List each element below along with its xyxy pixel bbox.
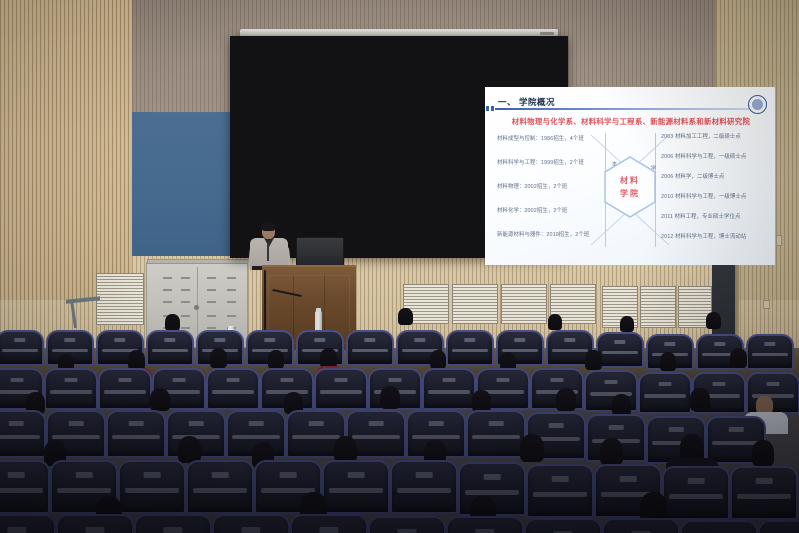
audience-member: [620, 316, 634, 332]
seat-number-tag: [729, 427, 744, 432]
seat-number-tag: [514, 338, 525, 342]
seat-number-tag: [319, 527, 338, 533]
audience-member: [128, 350, 145, 370]
seat-number-tag: [429, 421, 444, 426]
seat-number-tag: [164, 338, 175, 342]
audience-member: [150, 388, 170, 411]
slide-title-row: 一、 学院概况: [498, 96, 555, 108]
list-item: 2003 材料加工工程，二级硕士点: [661, 135, 741, 140]
cabinet-vent-slot: [163, 289, 172, 291]
seat-number-tag: [163, 527, 182, 533]
seat-number-tag: [348, 472, 365, 478]
seat-number-tag: [129, 421, 144, 426]
seat-number-tag: [227, 378, 240, 382]
seat-number-tag: [688, 478, 705, 484]
university-seal-icon: [748, 95, 767, 114]
seat[interactable]: [44, 368, 98, 410]
audience-member: [268, 350, 284, 369]
hexagon-line-1: 材料: [620, 175, 640, 186]
audience-member: [548, 314, 562, 330]
seat[interactable]: [602, 518, 680, 533]
seat[interactable]: [758, 520, 799, 533]
slide-red-heading: 材料物理与化学系、材料科学与工程系、新能源材料系和新材料研究院: [505, 116, 757, 127]
seat[interactable]: [106, 410, 166, 458]
seat-number-tag: [8, 472, 25, 478]
screen-housing-end-cap: [540, 32, 554, 35]
seat-number-tag: [389, 378, 402, 382]
slide-section-number: 一、: [498, 96, 516, 108]
seat-number-tag: [7, 527, 26, 533]
seat[interactable]: [290, 514, 368, 533]
seal-inner-ring: [752, 99, 763, 110]
audience-member: [165, 314, 180, 331]
seat-number-tag: [551, 378, 564, 382]
seat[interactable]: [206, 368, 260, 410]
seat[interactable]: [662, 466, 730, 520]
hexagon-line-2: 学院: [620, 188, 640, 199]
projection-screen-surface: 一、 学院概况 材料物理与化学系、材料科学与工程系、新能源材料系和新材料研究院: [485, 87, 775, 265]
seat[interactable]: [186, 460, 254, 514]
left-acoustic-wall-panel: [0, 0, 132, 310]
seat[interactable]: [322, 460, 390, 514]
audience-member: [706, 312, 721, 329]
seat-number-tag: [659, 382, 672, 386]
cabinet-top-cap: [147, 259, 249, 264]
audience-member: [556, 388, 576, 411]
list-item: 材料物理：2002招生，2个班: [497, 185, 567, 190]
audience-member: [600, 438, 623, 465]
seat[interactable]: [0, 514, 56, 533]
seat-number-tag: [756, 478, 773, 484]
seat[interactable]: [596, 332, 644, 368]
cabinet-vent-slot: [227, 289, 236, 291]
audience-member: [690, 388, 710, 411]
list-item: 材料成型与控制：1986招生，4个班: [497, 137, 584, 142]
hexagon-label: 材料 学院: [602, 155, 658, 219]
seat[interactable]: [526, 464, 594, 518]
wall-switch[interactable]: [776, 235, 782, 246]
seat-number-tag: [264, 338, 275, 342]
seat-number-tag: [564, 338, 575, 342]
seat-number-tag: [280, 472, 297, 478]
list-item: 2006 材料学，二级博士点: [661, 175, 724, 180]
center-hexagon: 材料 学院: [602, 155, 658, 219]
seat[interactable]: [524, 518, 602, 533]
audience-member: [585, 350, 602, 370]
list-item: 材料科学与工程：1999招生，2个班: [497, 161, 584, 166]
projection-screen-border: 一、 学院概况 材料物理与化学系、材料科学与工程系、新能源材料系和新材料研究院: [230, 36, 568, 258]
slide-title-dashes: [486, 106, 495, 111]
audience-member: [660, 352, 676, 371]
audience-member: [430, 350, 446, 369]
seat[interactable]: [390, 460, 458, 514]
seat-number-tag: [335, 378, 348, 382]
seat-number-tag: [552, 476, 569, 482]
cabinet-vent-slot: [163, 277, 172, 279]
audience-member: [612, 394, 631, 416]
seat-number-tag: [397, 529, 416, 533]
seat-number-tag: [549, 423, 564, 428]
slide-diagram: 材料成型与控制：1986招生，4个班 材料科学与工程：1999招生，2个班 材料…: [485, 133, 775, 261]
seat[interactable]: [134, 514, 212, 533]
seat-number-tag: [85, 527, 104, 533]
seat-number-tag: [764, 342, 775, 346]
seat-number-tag: [173, 378, 186, 382]
presenter-monitor[interactable]: [296, 237, 344, 268]
seat[interactable]: [746, 334, 794, 370]
seat-number-tag: [65, 378, 78, 382]
list-item: 新能源材料与器件：2019招生，2个班: [497, 233, 589, 238]
audience-member: [334, 436, 357, 463]
seat-number-tag: [416, 472, 433, 478]
seat[interactable]: [212, 514, 290, 533]
slide-title-rule: [495, 108, 763, 110]
seat-number-tag: [64, 338, 75, 342]
seat[interactable]: [446, 330, 494, 366]
seat-number-tag: [369, 421, 384, 426]
audience-member: [730, 348, 747, 368]
seat-number-tag: [669, 427, 684, 432]
seat[interactable]: [730, 466, 798, 520]
seat-number-tag: [281, 378, 294, 382]
presenter-hair: [261, 222, 276, 231]
lecture-hall-photo: 一、 学院概况 材料物理与化学系、材料科学与工程系、新能源材料系和新材料研究院: [0, 0, 799, 533]
seat[interactable]: [422, 368, 476, 410]
seat-number-tag: [713, 382, 726, 386]
seat[interactable]: [680, 520, 758, 533]
seat-number-tag: [214, 338, 225, 342]
seat[interactable]: [146, 330, 194, 366]
seat-number-tag: [364, 338, 375, 342]
seat-number-tag: [489, 421, 504, 426]
list-item: 2010 材料科学与工程，一级博士点: [661, 195, 746, 200]
seat[interactable]: [638, 372, 692, 414]
audience-member: [398, 308, 413, 325]
seat[interactable]: [0, 330, 44, 366]
audience-member: [320, 348, 337, 368]
list-item: 2012 材料科学与工程，博士流动站: [661, 235, 746, 240]
cabinet-vent-slot: [207, 277, 216, 279]
seat[interactable]: [368, 516, 446, 533]
seat-number-tag: [443, 378, 456, 382]
list-item: 2006 材料科学与工程，一级硕士点: [661, 155, 746, 160]
list-item: 2011 材料工程，专业硕士学位点: [661, 215, 740, 220]
seat[interactable]: [56, 514, 134, 533]
seat-number-tag: [605, 380, 618, 384]
seat-number-tag: [212, 472, 229, 478]
seat-number-tag: [475, 529, 494, 533]
seat-number-tag: [484, 474, 501, 480]
seat-number-tag: [9, 421, 24, 426]
audience-member: [210, 348, 227, 368]
seat-number-tag: [714, 342, 725, 346]
seat-number-tag: [241, 527, 260, 533]
presentation-slide: 一、 学院概况 材料物理与化学系、材料科学与工程系、新能源材料系和新材料研究院: [485, 87, 775, 265]
seat-number-tag: [314, 338, 325, 342]
audience-member: [472, 390, 491, 412]
seat[interactable]: [346, 330, 394, 366]
seat-number-tag: [76, 472, 93, 478]
seat[interactable]: [466, 410, 526, 458]
presenter-shirt-placket: [267, 243, 269, 261]
seat-number-tag: [664, 342, 675, 346]
cabinet-vent-slot: [227, 277, 236, 279]
seat-number-tag: [69, 421, 84, 426]
seat-number-tag: [189, 421, 204, 426]
audience-member: [520, 434, 544, 462]
seat-number-tag: [114, 338, 125, 342]
cabinet-vent-slot: [207, 289, 216, 291]
seat[interactable]: [118, 460, 186, 514]
seat[interactable]: [446, 516, 524, 533]
seat-number-tag: [464, 338, 475, 342]
seat-number-tag: [119, 378, 132, 382]
cabinet-vent-slot: [181, 277, 190, 279]
seat[interactable]: [98, 368, 152, 410]
seat[interactable]: [0, 460, 50, 514]
audience-seating: [0, 300, 799, 533]
seat[interactable]: [314, 368, 368, 410]
seat-number-tag: [609, 425, 624, 430]
seat-number-tag: [144, 472, 161, 478]
seat-number-tag: [620, 476, 637, 482]
audience-member: [380, 386, 400, 409]
audience-member: [752, 440, 774, 466]
seat-number-tag: [414, 338, 425, 342]
seat-number-tag: [11, 378, 24, 382]
seat-number-tag: [14, 338, 25, 342]
audience-member: [178, 436, 201, 463]
seat-number-tag: [614, 340, 625, 344]
seat-number-tag: [767, 382, 780, 386]
seat[interactable]: [0, 410, 46, 458]
page-title: 学院概况: [519, 96, 555, 108]
list-item: 材料化学：2002招生，2个班: [497, 209, 567, 214]
cabinet-vent-slot: [181, 289, 190, 291]
seat-number-tag: [497, 378, 510, 382]
seat-number-tag: [249, 421, 264, 426]
seat-number-tag: [309, 421, 324, 426]
